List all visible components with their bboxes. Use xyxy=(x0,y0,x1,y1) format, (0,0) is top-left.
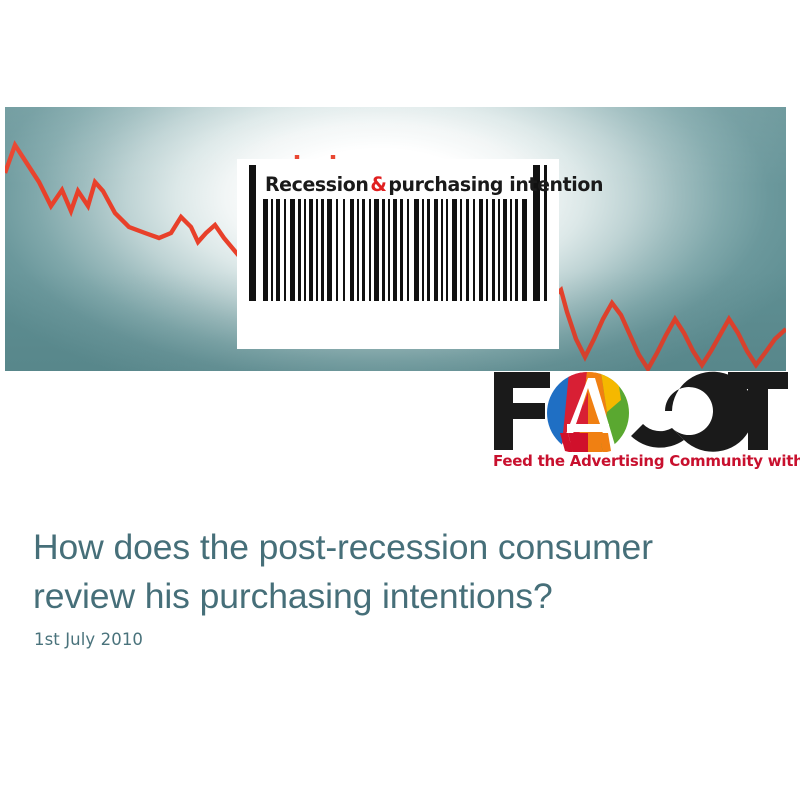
decline-line-left xyxy=(5,145,273,259)
barcode-bars xyxy=(263,199,529,301)
presentation-slide: Recession & purchasing intention xyxy=(0,0,800,800)
logo-a-skirt xyxy=(560,433,611,452)
page-title-line-2: review his purchasing intentions? xyxy=(33,572,763,621)
fact-logo-mark xyxy=(492,370,790,452)
barcode-title: Recession & purchasing intention xyxy=(265,169,523,199)
barcode-title-suffix: purchasing intention xyxy=(388,173,603,196)
barcode-title-ampersand: & xyxy=(368,173,388,196)
fact-logo-tagline: Feed the Advertising Community with Tren… xyxy=(493,452,785,470)
logo-letter-a xyxy=(547,372,629,452)
fact-logo: Feed the Advertising Community with Tren… xyxy=(492,370,790,480)
barcode-guard-bar-left xyxy=(249,165,256,301)
presentation-date: 1st July 2010 xyxy=(34,630,143,649)
barcode-graphic: Recession & purchasing intention xyxy=(237,159,559,349)
logo-letter-f xyxy=(494,372,550,450)
recession-banner: Recession & purchasing intention xyxy=(5,107,786,371)
page-title: How does the post-recession consumer rev… xyxy=(33,523,763,621)
barcode-title-prefix: Recession xyxy=(265,173,368,196)
page-title-line-1: How does the post-recession consumer xyxy=(33,523,763,572)
